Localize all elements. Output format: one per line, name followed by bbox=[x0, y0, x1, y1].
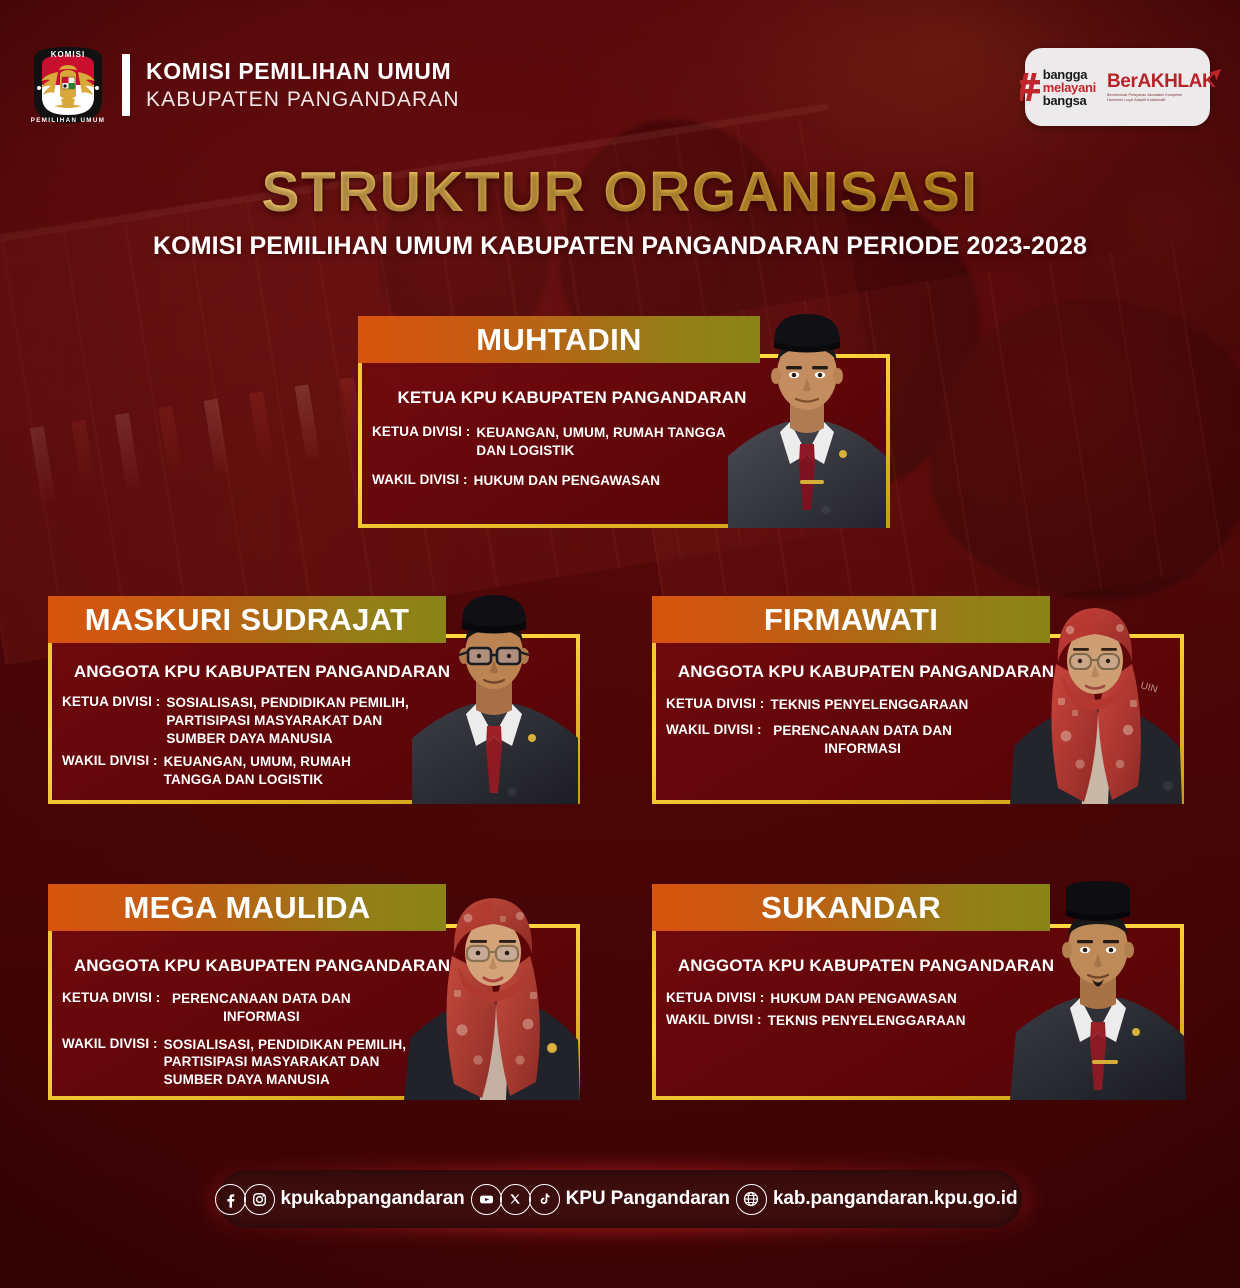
facebook-icon[interactable] bbox=[215, 1184, 246, 1215]
wakil-divisi-row: WAKIL DIVISI : SOSIALISASI, PENDIDIKAN P… bbox=[62, 1036, 462, 1089]
member-card-sukandar[interactable]: SUKANDAR ANGGOTA KPU KABUPATEN PANGANDAR… bbox=[652, 884, 1184, 1100]
ketua-divisi-label: KETUA DIVISI : bbox=[372, 424, 470, 460]
member-name: MEGA MAULIDA bbox=[124, 890, 371, 926]
member-role: ANGGOTA KPU KABUPATEN PANGANDARAN bbox=[62, 662, 462, 682]
ketua-divisi-label: KETUA DIVISI : bbox=[62, 990, 160, 1026]
ketua-divisi-value: KEUANGAN, UMUM, RUMAH TANGGA DAN LOGISTI… bbox=[476, 424, 734, 460]
member-role: ANGGOTA KPU KABUPATEN PANGANDARAN bbox=[666, 662, 1066, 682]
ketua-divisi-label: KETUA DIVISI : bbox=[666, 990, 764, 1008]
page-title: STRUKTUR ORGANISASI bbox=[0, 163, 1240, 223]
member-role: ANGGOTA KPU KABUPATEN PANGANDARAN bbox=[62, 956, 462, 976]
poster-root: KOMISI PEMILIHAN UMUM KOMISI PEMILIHAN U… bbox=[0, 0, 1240, 1288]
youtube-icon[interactable] bbox=[471, 1184, 502, 1215]
berakhlak-badge: bangga melayani bangsa BerAKHLAK Berorie… bbox=[1025, 48, 1210, 126]
ketua-divisi-row: KETUA DIVISI : HUKUM DAN PENGAWASAN bbox=[666, 990, 1066, 1008]
globe-icon[interactable] bbox=[736, 1184, 767, 1215]
badge-words: bangga melayani bangsa bbox=[1043, 68, 1096, 107]
svg-text:KOMISI: KOMISI bbox=[51, 50, 85, 59]
brand-title: KOMISI PEMILIHAN UMUM bbox=[146, 57, 460, 86]
title-block: STRUKTUR ORGANISASI KOMISI PEMILIHAN UMU… bbox=[0, 163, 1240, 261]
member-card-maskuri-sudrajat[interactable]: MASKURI SUDRAJAT ANGGOTA KPU KABUPATEN P… bbox=[48, 596, 580, 804]
wakil-divisi-value: PERENCANAAN DATA DAN INFORMASI bbox=[768, 722, 958, 758]
ketua-divisi-value: PERENCANAAN DATA DAN INFORMASI bbox=[166, 990, 356, 1026]
ketua-divisi-label: KETUA DIVISI : bbox=[62, 694, 160, 747]
berakhlak-title: BerAKHLAK bbox=[1107, 71, 1215, 93]
ketua-divisi-row: KETUA DIVISI : KEUANGAN, UMUM, RUMAH TAN… bbox=[372, 424, 772, 460]
wakil-divisi-row: WAKIL DIVISI : KEUANGAN, UMUM, RUMAH TAN… bbox=[62, 753, 462, 789]
wakil-divisi-value: SOSIALISASI, PENDIDIKAN PEMILIH, PARTISI… bbox=[164, 1036, 412, 1089]
wakil-divisi-label: WAKIL DIVISI : bbox=[372, 472, 468, 490]
wakil-divisi-label: WAKIL DIVISI : bbox=[62, 1036, 158, 1089]
page-subtitle: KOMISI PEMILIHAN UMUM KABUPATEN PANGANDA… bbox=[0, 232, 1240, 261]
member-role: ANGGOTA KPU KABUPATEN PANGANDARAN bbox=[666, 956, 1066, 976]
member-card-firmawati[interactable]: FIRMAWATI ANGGOTA KPU KABUPATEN PANGANDA… bbox=[652, 596, 1184, 804]
wakil-divisi-label: WAKIL DIVISI : bbox=[666, 722, 762, 758]
brand-divider bbox=[122, 54, 130, 116]
badge-word-melayani: melayani bbox=[1043, 81, 1096, 94]
card-header-bar: MUHTADIN bbox=[358, 316, 760, 363]
wakil-divisi-label: WAKIL DIVISI : bbox=[62, 753, 158, 789]
brand-text: KOMISI PEMILIHAN UMUM KABUPATEN PANGANDA… bbox=[146, 57, 460, 113]
card-content: KETUA KPU KABUPATEN PANGANDARAN KETUA DI… bbox=[372, 388, 772, 489]
member-card-mega-maulida[interactable]: MEGA MAULIDA ANGGOTA KPU KABUPATEN PANGA… bbox=[48, 884, 580, 1100]
member-name: SUKANDAR bbox=[761, 890, 941, 926]
card-content: ANGGOTA KPU KABUPATEN PANGANDARAN KETUA … bbox=[666, 956, 1066, 1030]
instagram-icon[interactable] bbox=[244, 1184, 275, 1215]
wakil-divisi-row: WAKIL DIVISI : PERENCANAAN DATA DAN INFO… bbox=[666, 722, 1066, 758]
berakhlak-subtitle: Berorientasi Pelayanan Akuntabel Kompete… bbox=[1107, 93, 1183, 104]
wakil-divisi-value: TEKNIS PENYELENGGARAAN bbox=[768, 1012, 966, 1030]
wakil-divisi-row: WAKIL DIVISI : TEKNIS PENYELENGGARAAN bbox=[666, 1012, 1066, 1030]
ketua-divisi-row: KETUA DIVISI : TEKNIS PENYELENGGARAAN bbox=[666, 696, 1066, 714]
hashtag-icon bbox=[1020, 73, 1040, 101]
bangga-melayani-bangsa-logo: bangga melayani bangsa bbox=[1020, 68, 1096, 107]
svg-text:PEMILIHAN UMUM: PEMILIHAN UMUM bbox=[31, 117, 106, 124]
ketua-divisi-value: TEKNIS PENYELENGGARAAN bbox=[770, 696, 968, 714]
badge-word-bangsa: bangsa bbox=[1043, 94, 1096, 107]
ketua-divisi-row: KETUA DIVISI : PERENCANAAN DATA DAN INFO… bbox=[62, 990, 462, 1026]
page-header: KOMISI PEMILIHAN UMUM KOMISI PEMILIHAN U… bbox=[0, 0, 1240, 140]
channel-name: KPU Pangandaran bbox=[566, 1188, 730, 1210]
card-content: ANGGOTA KPU KABUPATEN PANGANDARAN KETUA … bbox=[666, 662, 1066, 757]
badge-word-bangga: bangga bbox=[1043, 68, 1096, 81]
member-name: MASKURI SUDRAJAT bbox=[85, 602, 410, 638]
member-name: FIRMAWATI bbox=[764, 602, 938, 638]
brand-block: KOMISI PEMILIHAN UMUM KOMISI PEMILIHAN U… bbox=[28, 44, 460, 126]
wakil-divisi-row: WAKIL DIVISI : HUKUM DAN PENGAWASAN bbox=[372, 472, 772, 490]
berakhlak-logo: BerAKHLAK Berorientasi Pelayanan Akuntab… bbox=[1107, 71, 1215, 104]
ketua-divisi-value: HUKUM DAN PENGAWASAN bbox=[770, 990, 957, 1008]
member-card-muhtadin[interactable]: MUHTADIN KETUA KPU KABUPATEN PANGANDARAN… bbox=[358, 316, 890, 528]
website-url: kab.pangandaran.kpu.go.id bbox=[773, 1188, 1018, 1210]
wakil-divisi-label: WAKIL DIVISI : bbox=[666, 1012, 762, 1030]
social-handle: kpukabpangandaran bbox=[281, 1188, 465, 1210]
ketua-divisi-label: KETUA DIVISI : bbox=[666, 696, 764, 714]
card-header-bar: MEGA MAULIDA bbox=[48, 884, 446, 931]
kpu-garuda-emblem-icon: KOMISI PEMILIHAN UMUM bbox=[28, 44, 108, 126]
ketua-divisi-row: KETUA DIVISI : SOSIALISASI, PENDIDIKAN P… bbox=[62, 694, 462, 747]
x-twitter-icon[interactable] bbox=[500, 1184, 531, 1215]
card-header-bar: FIRMAWATI bbox=[652, 596, 1050, 643]
card-header-bar: MASKURI SUDRAJAT bbox=[48, 596, 446, 643]
footer-social-bar: kpukabpangandaran KPU Pangandaran bbox=[218, 1170, 1022, 1228]
card-content: ANGGOTA KPU KABUPATEN PANGANDARAN KETUA … bbox=[62, 956, 462, 1089]
card-content: ANGGOTA KPU KABUPATEN PANGANDARAN KETUA … bbox=[62, 662, 462, 789]
wakil-divisi-value: HUKUM DAN PENGAWASAN bbox=[474, 472, 661, 490]
ketua-divisi-value: SOSIALISASI, PENDIDIKAN PEMILIH, PARTISI… bbox=[166, 694, 418, 747]
wakil-divisi-value: KEUANGAN, UMUM, RUMAH TANGGA DAN LOGISTI… bbox=[164, 753, 374, 789]
member-role: KETUA KPU KABUPATEN PANGANDARAN bbox=[372, 388, 772, 408]
tiktok-icon[interactable] bbox=[529, 1184, 560, 1215]
brand-subtitle: KABUPATEN PANGANDARAN bbox=[146, 86, 460, 113]
card-header-bar: SUKANDAR bbox=[652, 884, 1050, 931]
member-name: MUHTADIN bbox=[476, 322, 641, 358]
